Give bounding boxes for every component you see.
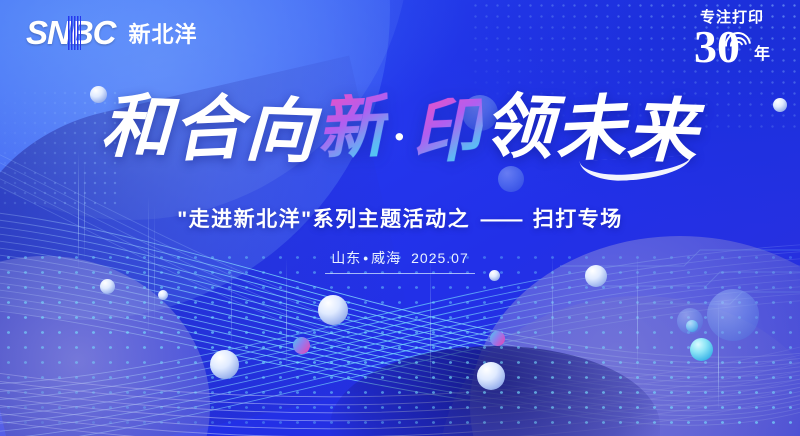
decor-sphere-12 <box>677 308 703 334</box>
subtitle-suffix: 扫打专场 <box>533 208 623 231</box>
navy-pocket-bottom <box>330 346 660 436</box>
brand-logo[interactable]: SNBC 新北洋 <box>26 14 198 52</box>
decor-sphere-6 <box>293 337 310 354</box>
light-streak-6 <box>430 256 431 386</box>
calligraphy-swash <box>580 155 693 183</box>
headline-char-1: 合 <box>172 94 247 167</box>
headline-char-3: 新 <box>316 92 391 165</box>
light-streak-9 <box>718 300 719 410</box>
dateline-city: 威海 <box>371 250 401 266</box>
decor-sphere-9 <box>690 338 713 361</box>
snbc-wordmark: SNBC <box>26 14 116 52</box>
decor-sphere-16 <box>498 166 524 192</box>
decor-sphere-10 <box>686 320 698 332</box>
dateline-date: 2025.07 <box>401 250 469 266</box>
swirl-icon <box>723 31 753 65</box>
dateline-inner: 山东•威海2025.07 <box>325 248 475 274</box>
anniversary-badge: 专注打印 30 年 <box>680 10 784 68</box>
snbc-wordmark-text: SNBC <box>26 14 116 51</box>
badge-number-row: 30 年 <box>680 25 784 69</box>
headline-char-2: 向 <box>244 97 318 169</box>
decor-sphere-4 <box>477 362 505 390</box>
dateline-province: 山东 <box>331 250 361 266</box>
violet-blob-bottom-left <box>0 256 210 436</box>
decor-sphere-0 <box>100 279 115 294</box>
light-streak-5 <box>231 262 232 348</box>
dot-field-waves <box>0 250 800 436</box>
decor-sphere-2 <box>318 295 348 325</box>
event-banner: SNBC 新北洋 专注打印 30 年 和合向新·印领未来 "走进新北洋"系列主题… <box>0 0 800 436</box>
headline-char-5: 印 <box>409 96 484 169</box>
headline-char-0: 和 <box>100 93 174 165</box>
subtitle-prefix: "走进新北洋"系列主题活动之 <box>177 208 470 231</box>
headline-char-7: 未 <box>553 94 628 167</box>
decor-sphere-11 <box>707 289 759 341</box>
decor-sphere-3 <box>210 350 239 379</box>
violet-blob-bottom-right-2 <box>440 296 800 436</box>
subtitle-dash: —— <box>477 208 525 231</box>
event-subtitle: "走进新北洋"系列主题活动之 —— 扫打专场 <box>0 203 800 233</box>
event-dateline: 山东•威海2025.07 <box>0 248 800 274</box>
decor-sphere-7 <box>490 331 505 346</box>
decor-sphere-1 <box>158 290 168 300</box>
dateline-separator: • <box>361 250 371 266</box>
badge-unit: 年 <box>754 40 770 64</box>
headline-char-4: · <box>389 114 411 160</box>
headline-char-6: 领 <box>482 93 556 165</box>
light-streak-4 <box>286 258 287 368</box>
brand-name-cn: 新北洋 <box>129 17 198 49</box>
